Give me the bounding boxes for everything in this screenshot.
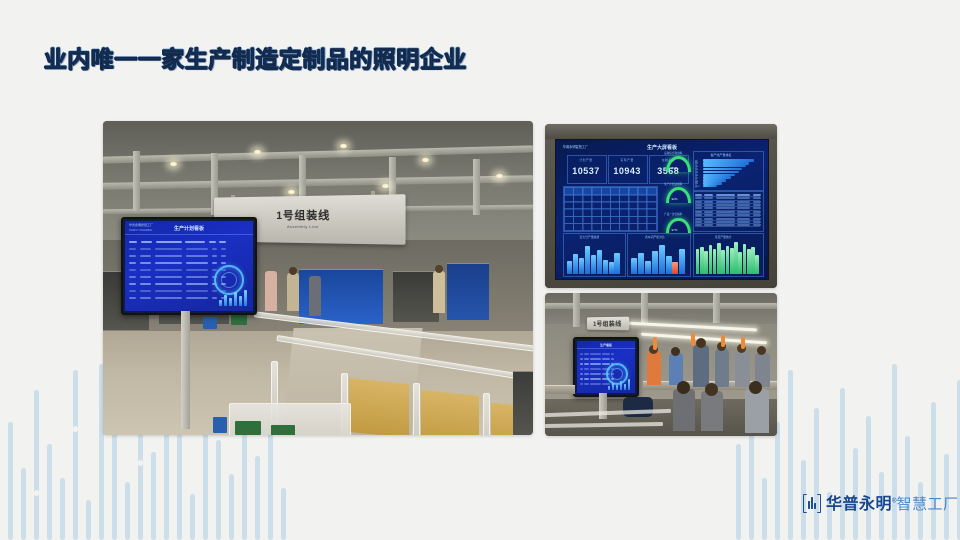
table-cell [704,201,712,203]
decorative-bar [112,432,117,540]
table-cell [716,224,735,226]
trend-bar [645,261,651,274]
glove [721,335,725,347]
worker [309,276,321,316]
floor [545,399,777,436]
table-cell [704,194,712,196]
trend-bar [614,253,619,274]
trend-bar [591,255,596,273]
table-cell [695,218,701,220]
worker-head [677,381,690,394]
decorative-bar [775,422,780,540]
trend-bar [579,258,584,273]
trend-bar [672,262,678,273]
trend-bar [603,260,608,274]
kpi-value: 10537 [567,166,605,176]
screen-logo: 华普永明智慧工厂 [129,224,153,228]
sign-label: 1号组装线 [276,211,330,222]
trend-bar [652,251,658,274]
page-title: 业内唯一一家生产制造定制品的照明企业 [44,40,467,74]
trend-right-title: 月度产量统计 [715,235,732,239]
table-cell [695,214,701,216]
presentation-slide: 业内唯一一家生产制造定制品的照明企业 [0,0,960,540]
trend-bar [638,253,644,273]
worker-head [435,265,443,273]
screen-chart-bar [612,383,614,390]
kpi-value: 10943 [608,166,646,176]
table-cell [695,224,701,226]
trend-bar [609,262,614,273]
table-cell [695,204,701,206]
dashboard-screen-face: 生产看板 [577,341,635,393]
decorative-bar-gap [138,460,143,466]
gauge-label: 生产计划达成率 [664,182,682,186]
table-cell [695,201,701,203]
trend-bar [738,252,742,273]
hbar-label: 线10 [695,184,700,188]
worker [287,273,299,311]
logo-sub-text: 智慧工厂 [896,496,958,513]
screen-chart-bar [239,296,242,306]
screen-table-row [129,276,226,278]
decorative-bar [840,388,845,540]
worker [647,351,661,385]
trend-bar [597,250,602,274]
screen-bar-chart [219,290,247,306]
table-cell [695,221,701,223]
decorative-bar [216,440,221,540]
trend-mid-title: 各车间产能对比 [645,235,665,239]
decorative-bar [21,468,26,540]
decorative-bar [60,478,65,540]
sign-sublabel: Assembly Line [287,224,319,229]
blue-bin [213,417,227,433]
trend-bar [743,244,747,274]
table-cell [753,221,761,223]
table-cell [753,214,761,216]
gauge-value: 92% [671,197,677,201]
screen-chart-bar [624,384,626,390]
wood-panel [349,378,409,435]
trend-bar [704,251,708,273]
sign-label: 1号组装线 [593,319,622,328]
worker [693,345,709,387]
decorative-bar [905,436,910,540]
decorative-bar [788,370,793,540]
screen-title: 生产看板 [600,343,612,347]
decorative-bar [736,444,741,540]
table-cell [716,201,735,203]
big-dashboard-screen: 华普永明智慧工厂 生产大屏看板 计划产量10537实际产量10943在制品数35… [555,139,768,280]
green-crate [235,421,261,435]
support-column [713,293,720,323]
screen-table-row [580,358,614,360]
decorative-bar [73,370,78,540]
screen-table-header [129,241,226,243]
screen-bar-chart [608,379,630,390]
table-cell [695,211,701,213]
trend-bar [730,248,734,274]
trend-bar [721,250,725,273]
screen-table-row [129,262,226,264]
dashboard-logo: 华普永明智慧工厂 [563,144,589,149]
factory-photo-content: 1号组装线 Assembly Line [103,121,533,435]
trend-bar [747,249,751,273]
decorative-bar [190,494,195,540]
glove [741,337,745,349]
decorative-bar-gap [34,490,39,496]
dashboard-screen: 华普永明智慧工厂 HUAPU YONGMING 生产计划看板 [121,217,257,315]
screen-table-row [129,269,226,271]
screen-chart-bar [234,292,237,306]
ceiling-light [339,143,348,149]
worker-head [749,381,762,394]
dashboard-screen: 生产看板 [573,337,639,397]
ceiling-light [495,173,504,179]
trend-bar [567,261,572,274]
worker-head [289,267,297,275]
table-cell [753,194,761,196]
screen-table-row [580,363,614,365]
dashboard-screen-face: 华普永明智慧工厂 HUAPU YONGMING 生产计划看板 [125,221,253,311]
trend-bar [713,249,717,274]
worker [735,351,750,387]
trend-left-title: 近七日产量趋势 [580,235,600,239]
worker [715,349,729,387]
ceiling-light [287,189,296,195]
decorative-bar [229,474,234,540]
screen-chart-bar [244,290,247,306]
decorative-bar [151,452,156,540]
table-cell [737,221,750,223]
gauge-label: 设备综合利用率 [664,151,682,155]
table-cell [753,211,761,213]
table-cell [716,214,735,216]
worker-head [705,383,718,396]
bottom-right-photo-frame: 1号组装线 生产看板 [545,293,777,436]
table-cell [753,201,761,203]
table-cell [753,218,761,220]
trend-bar [709,245,713,274]
gauge-label: 产品一次合格率 [664,212,682,216]
ranking-panel-title: 各产线产量排名 [711,153,732,157]
assembly-line-sign: 1号组装线 [587,317,629,331]
main-photo-frame: 1号组装线 Assembly Line [103,121,533,435]
green-crate [271,425,295,435]
gauge-arc [666,218,691,234]
screen-table-row [129,255,226,257]
hbar [703,171,739,174]
decorative-bar [814,408,819,540]
trend-bar [717,243,721,274]
table-cell [716,194,735,196]
screen-chart-bar [229,298,232,306]
fence-post [413,383,420,435]
trend-bar [726,246,730,274]
decorative-bar [281,488,286,540]
decorative-bar-gap [73,426,78,432]
screen-table-row [129,248,226,250]
ceiling-light [253,149,262,155]
trend-bar [573,254,578,274]
top-right-photo-frame: 华普永明智慧工厂 生产大屏看板 计划产量10537实际产量10943在制品数35… [545,124,777,288]
grid-cell [646,223,657,232]
table-divider [695,226,760,227]
ceiling-beam [545,124,777,139]
table-cell [737,218,750,220]
trend-bar [585,246,590,274]
blue-workstation [447,263,489,320]
gauge-value: 86% [671,166,677,170]
table-cell [737,224,750,226]
ceiling-light [169,161,178,167]
table-cell [737,211,750,213]
kpi-label: 计划产量 [567,158,605,162]
table-cell [737,194,750,196]
shelving-unit [513,371,533,435]
screen-chart-bar [608,386,610,390]
screen-table-row [129,283,226,285]
decorative-bar [255,456,260,540]
decorative-bar [762,478,767,540]
decorative-bar [931,402,936,540]
worker-head [696,338,706,348]
logo-main-text: 华普永明 [826,496,892,513]
work-bench [545,385,575,394]
screen-chart-bar [219,300,222,306]
logo-mark-icon [803,494,821,511]
support-column [641,293,648,325]
screen-table-row [129,297,226,299]
worker-head [757,346,766,355]
seated-worker [701,391,723,431]
trend-bar [666,256,672,274]
trend-bar [755,255,759,274]
seated-worker [745,389,769,433]
screen-chart-bar [224,295,227,306]
table-cell [704,204,712,206]
screen-chart-bar [628,379,630,390]
support-column [473,159,480,215]
trend-bar [700,247,704,274]
ceiling-light [421,157,430,163]
table-cell [704,211,712,213]
screen-chart-bar [620,381,622,390]
screen-title: 生产计划看板 [174,225,204,232]
kpi-label: 实际产量 [608,158,646,162]
brand-logo: 华普永明®智慧工厂 [803,490,958,514]
dashboard-title: 生产大屏看板 [647,144,677,151]
dashboard-photo-content: 华普永明智慧工厂 生产大屏看板 计划产量10537实际产量10943在制品数35… [545,124,777,288]
decorative-bar [866,416,871,540]
table-cell [704,221,712,223]
decorative-bar [86,500,91,540]
screen-chart-bar [616,385,618,390]
screen-logo-sub: HUAPU YONGMING [129,229,152,232]
decorative-bar [34,390,39,540]
table-cell [704,224,712,226]
support-column [133,151,140,211]
logo-text-group: 华普永明®智慧工厂 [826,490,958,514]
decorative-bar [268,422,273,540]
table-cell [716,211,735,213]
trend-bar [631,258,637,273]
table-cell [704,214,712,216]
trend-bar [696,249,700,273]
screen-stand [181,311,190,429]
table-cell [704,218,712,220]
decorative-bar [177,420,182,540]
table-cell [716,221,735,223]
blue-bin [203,317,217,329]
worker [433,271,445,313]
trend-bar [734,242,738,274]
table-cell [737,204,750,206]
trend-bars-right [696,240,759,273]
ceiling-light [381,183,390,189]
table-cell [753,224,761,226]
workers-photo-content: 1号组装线 生产看板 [545,293,777,436]
glove [691,333,695,346]
table-cell [753,204,761,206]
decorative-bar [125,482,130,540]
screen-table-row [129,290,226,292]
gauge-arc [666,187,691,203]
table-cell [695,194,701,196]
trend-bar [659,245,665,273]
table-cell [737,201,750,203]
decorative-bar [47,444,52,540]
decorative-bar [8,422,13,540]
trend-bar [751,247,755,274]
gauge-value: 97% [671,228,677,232]
worker [669,353,683,385]
trend-bars-mid [631,243,685,274]
hbar [703,168,742,171]
trend-bars-left [567,243,620,274]
fence-post [483,393,490,435]
wood-panel [421,390,479,435]
table-cell [716,204,735,206]
screen-table-row [580,353,614,355]
support-column [573,293,580,327]
worker-head [671,347,680,356]
table-cell [716,218,735,220]
worker [265,271,277,311]
glove [653,337,657,350]
trend-bar [679,249,685,273]
table-cell [737,214,750,216]
seated-worker [673,389,695,431]
